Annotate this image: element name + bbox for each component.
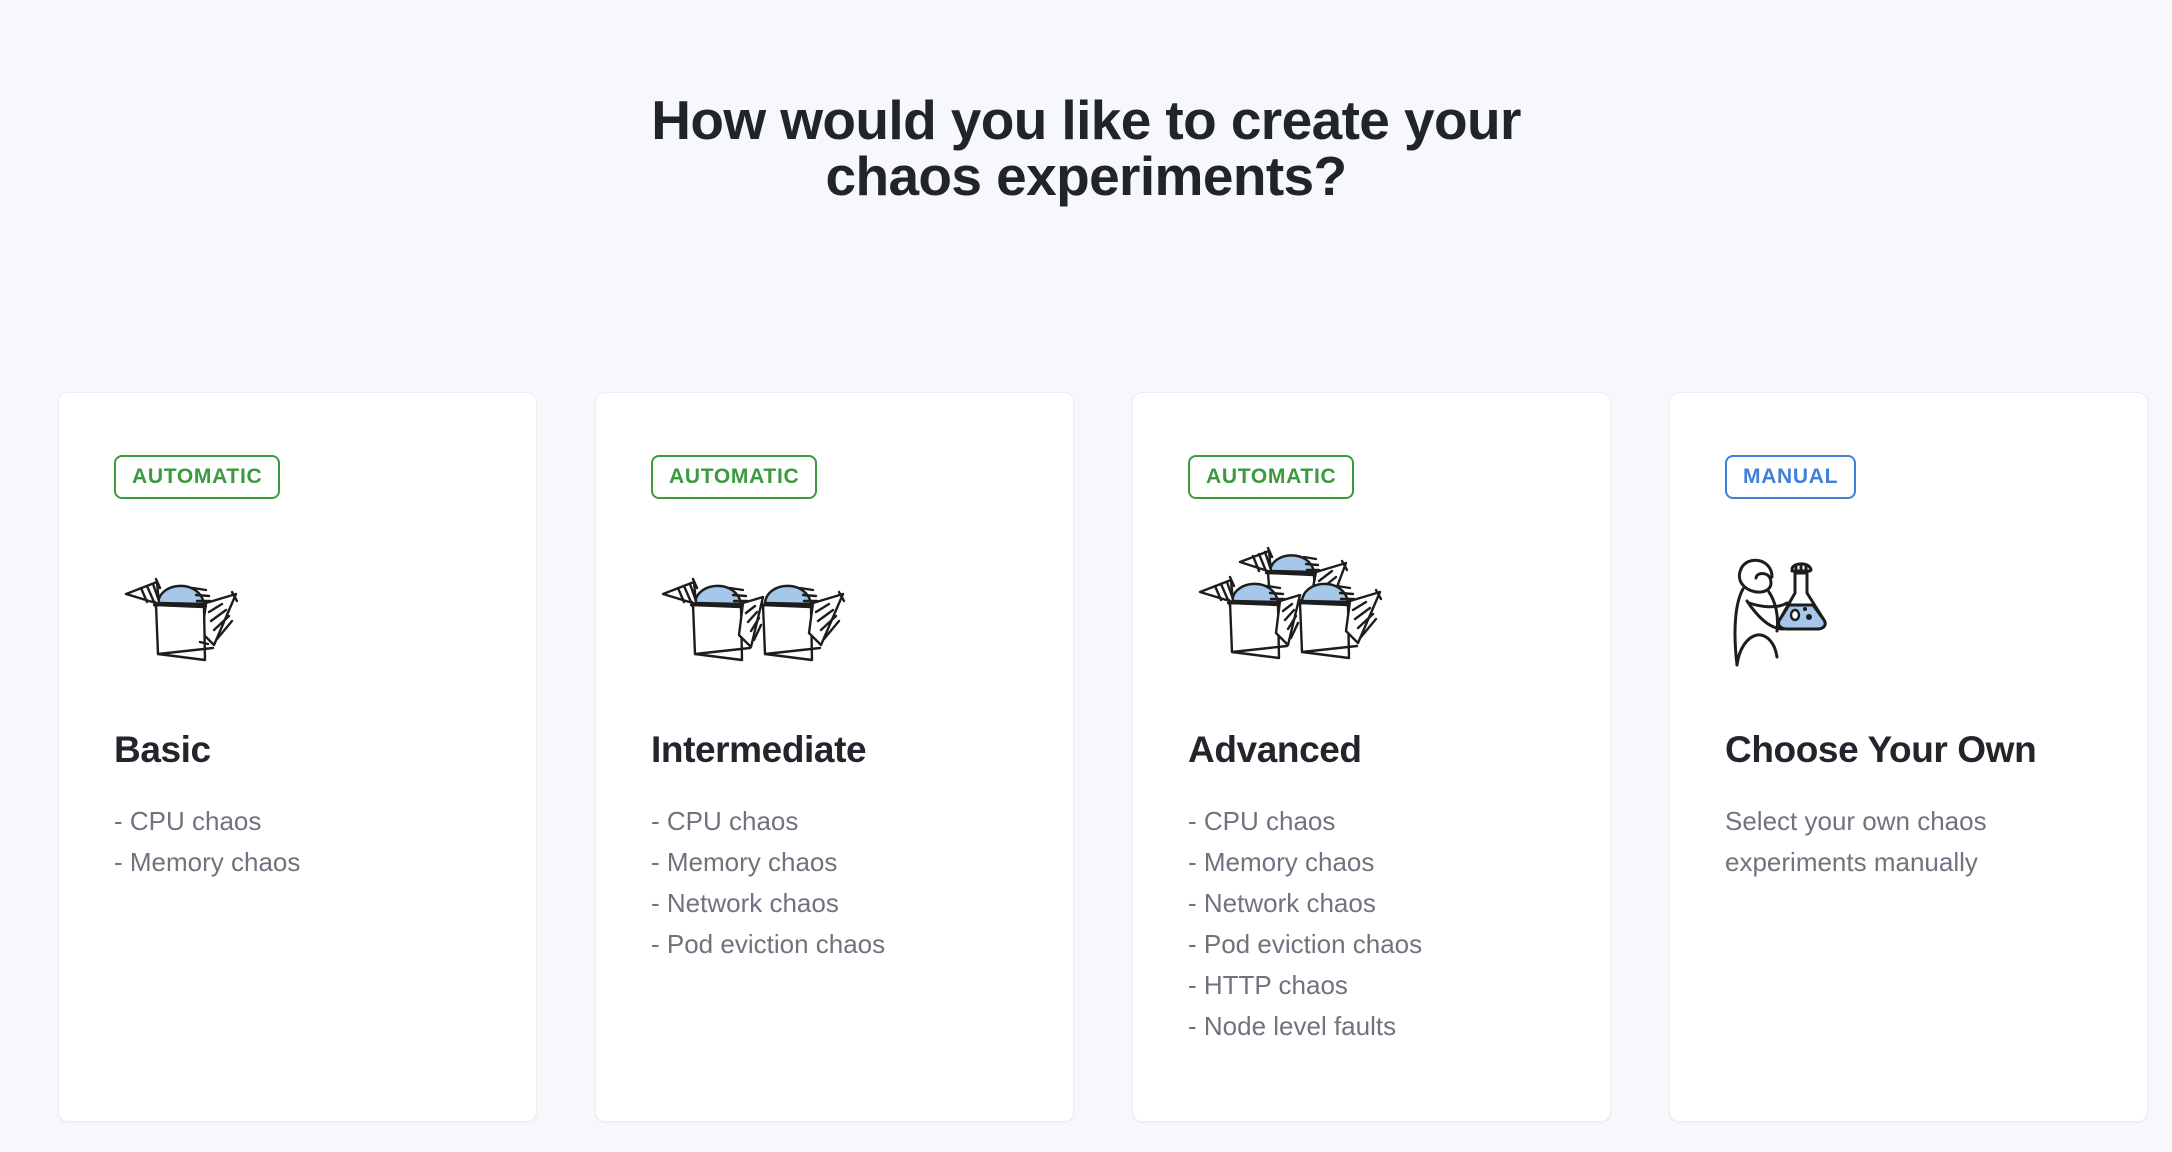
status-badge: AUTOMATIC — [1188, 455, 1354, 499]
experiment-mode-card-intermediate[interactable]: AUTOMATIC — [595, 392, 1074, 1122]
card-title: Advanced — [1188, 729, 1555, 771]
list-item: - Node level faults — [1188, 1006, 1555, 1047]
one-box-illustration — [114, 543, 481, 673]
status-badge: AUTOMATIC — [114, 455, 280, 499]
card-title: Intermediate — [651, 729, 1018, 771]
list-item: - Network chaos — [1188, 883, 1555, 924]
list-item: - CPU chaos — [651, 801, 1018, 842]
experiment-mode-card-basic[interactable]: AUTOMATIC — [58, 392, 537, 1122]
list-item: - CPU chaos — [114, 801, 481, 842]
list-item: - Memory chaos — [1188, 842, 1555, 883]
chaos-type-list: - CPU chaos - Memory chaos — [114, 801, 481, 883]
experiment-mode-card-row: AUTOMATIC — [58, 392, 2148, 1122]
list-item: - HTTP chaos — [1188, 965, 1555, 1006]
chaos-type-list: - CPU chaos - Memory chaos - Network cha… — [651, 801, 1018, 965]
list-item: - Pod eviction chaos — [651, 924, 1018, 965]
person-with-flask-illustration — [1725, 543, 2092, 673]
experiment-mode-card-choose-your-own[interactable]: MANUAL — [1669, 392, 2148, 1122]
status-badge: MANUAL — [1725, 455, 1856, 499]
list-item: - CPU chaos — [1188, 801, 1555, 842]
card-title: Basic — [114, 729, 481, 771]
status-badge: AUTOMATIC — [651, 455, 817, 499]
experiment-mode-card-advanced[interactable]: AUTOMATIC — [1132, 392, 1611, 1122]
page-title: How would you like to create your chaos … — [606, 92, 1566, 204]
page-heading-container: How would you like to create your chaos … — [0, 92, 2172, 204]
three-boxes-illustration — [1188, 543, 1555, 673]
list-item: - Memory chaos — [114, 842, 481, 883]
two-boxes-illustration — [651, 543, 1018, 673]
list-item: - Memory chaos — [651, 842, 1018, 883]
list-item: - Pod eviction chaos — [1188, 924, 1555, 965]
chaos-type-list: - CPU chaos - Memory chaos - Network cha… — [1188, 801, 1555, 1047]
list-item: - Network chaos — [651, 883, 1018, 924]
card-title: Choose Your Own — [1725, 729, 2092, 771]
create-experiment-chooser-page: How would you like to create your chaos … — [0, 0, 2172, 1152]
card-description: Select your own chaos experiments manual… — [1725, 801, 2025, 883]
